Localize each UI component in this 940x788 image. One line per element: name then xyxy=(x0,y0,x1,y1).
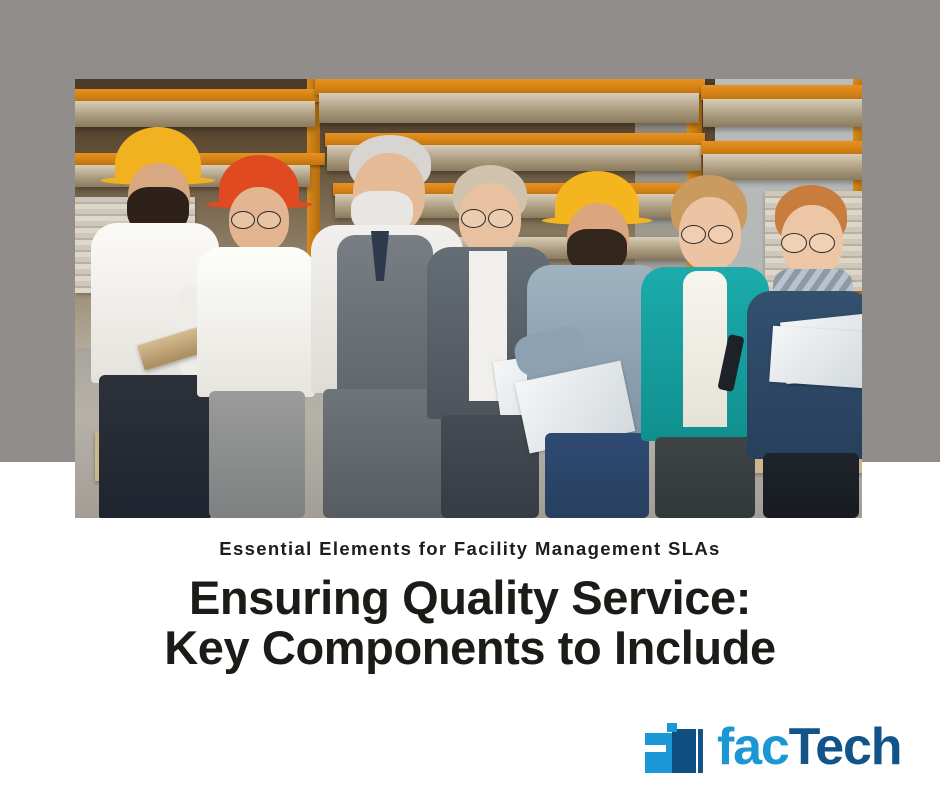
building-icon xyxy=(645,721,701,773)
poster-canvas: Essential Elements for Facility Manageme… xyxy=(0,0,940,788)
documents xyxy=(769,326,862,389)
trousers-navy xyxy=(545,433,649,518)
eyeglasses xyxy=(809,233,835,253)
poster-text-block: Essential Elements for Facility Manageme… xyxy=(0,540,940,673)
eyeglasses xyxy=(681,225,706,244)
factech-logo[interactable]: facTech xyxy=(645,714,935,780)
page-title: Ensuring Quality Service: Key Components… xyxy=(0,573,940,674)
building-icon-roof-cap xyxy=(667,723,677,732)
building-icon-divider-bar xyxy=(698,729,703,773)
stored-board xyxy=(75,101,315,127)
eyeglasses xyxy=(708,225,733,244)
trousers-dark xyxy=(763,453,859,518)
headline-line-1: Ensuring Quality Service: xyxy=(0,573,940,623)
eyeglasses xyxy=(231,211,255,229)
person-7 xyxy=(747,185,862,518)
building-icon-right-block xyxy=(672,729,696,773)
stored-board xyxy=(703,99,862,127)
logo-word-tech: Tech xyxy=(789,718,902,776)
inner-top-white xyxy=(683,271,727,427)
eyeglasses xyxy=(488,209,513,228)
eyeglasses xyxy=(461,209,486,228)
rack-beam xyxy=(701,141,862,155)
eyeglasses xyxy=(781,233,807,253)
logo-wordmark: facTech xyxy=(717,721,901,773)
eyeglasses xyxy=(257,211,281,229)
person-2 xyxy=(193,155,319,518)
stored-board xyxy=(319,93,699,123)
trousers-dark xyxy=(655,437,755,518)
rack-beam xyxy=(701,85,862,100)
building-icon-window-slot xyxy=(645,745,666,752)
trousers-grey xyxy=(209,391,305,518)
warehouse-scene xyxy=(75,79,862,518)
kicker-text: Essential Elements for Facility Manageme… xyxy=(0,540,940,559)
torso-shirt xyxy=(197,247,315,397)
headline-line-2: Key Components to Include xyxy=(0,623,940,673)
logo-word-fac: fac xyxy=(717,718,789,776)
hero-image xyxy=(75,79,862,518)
